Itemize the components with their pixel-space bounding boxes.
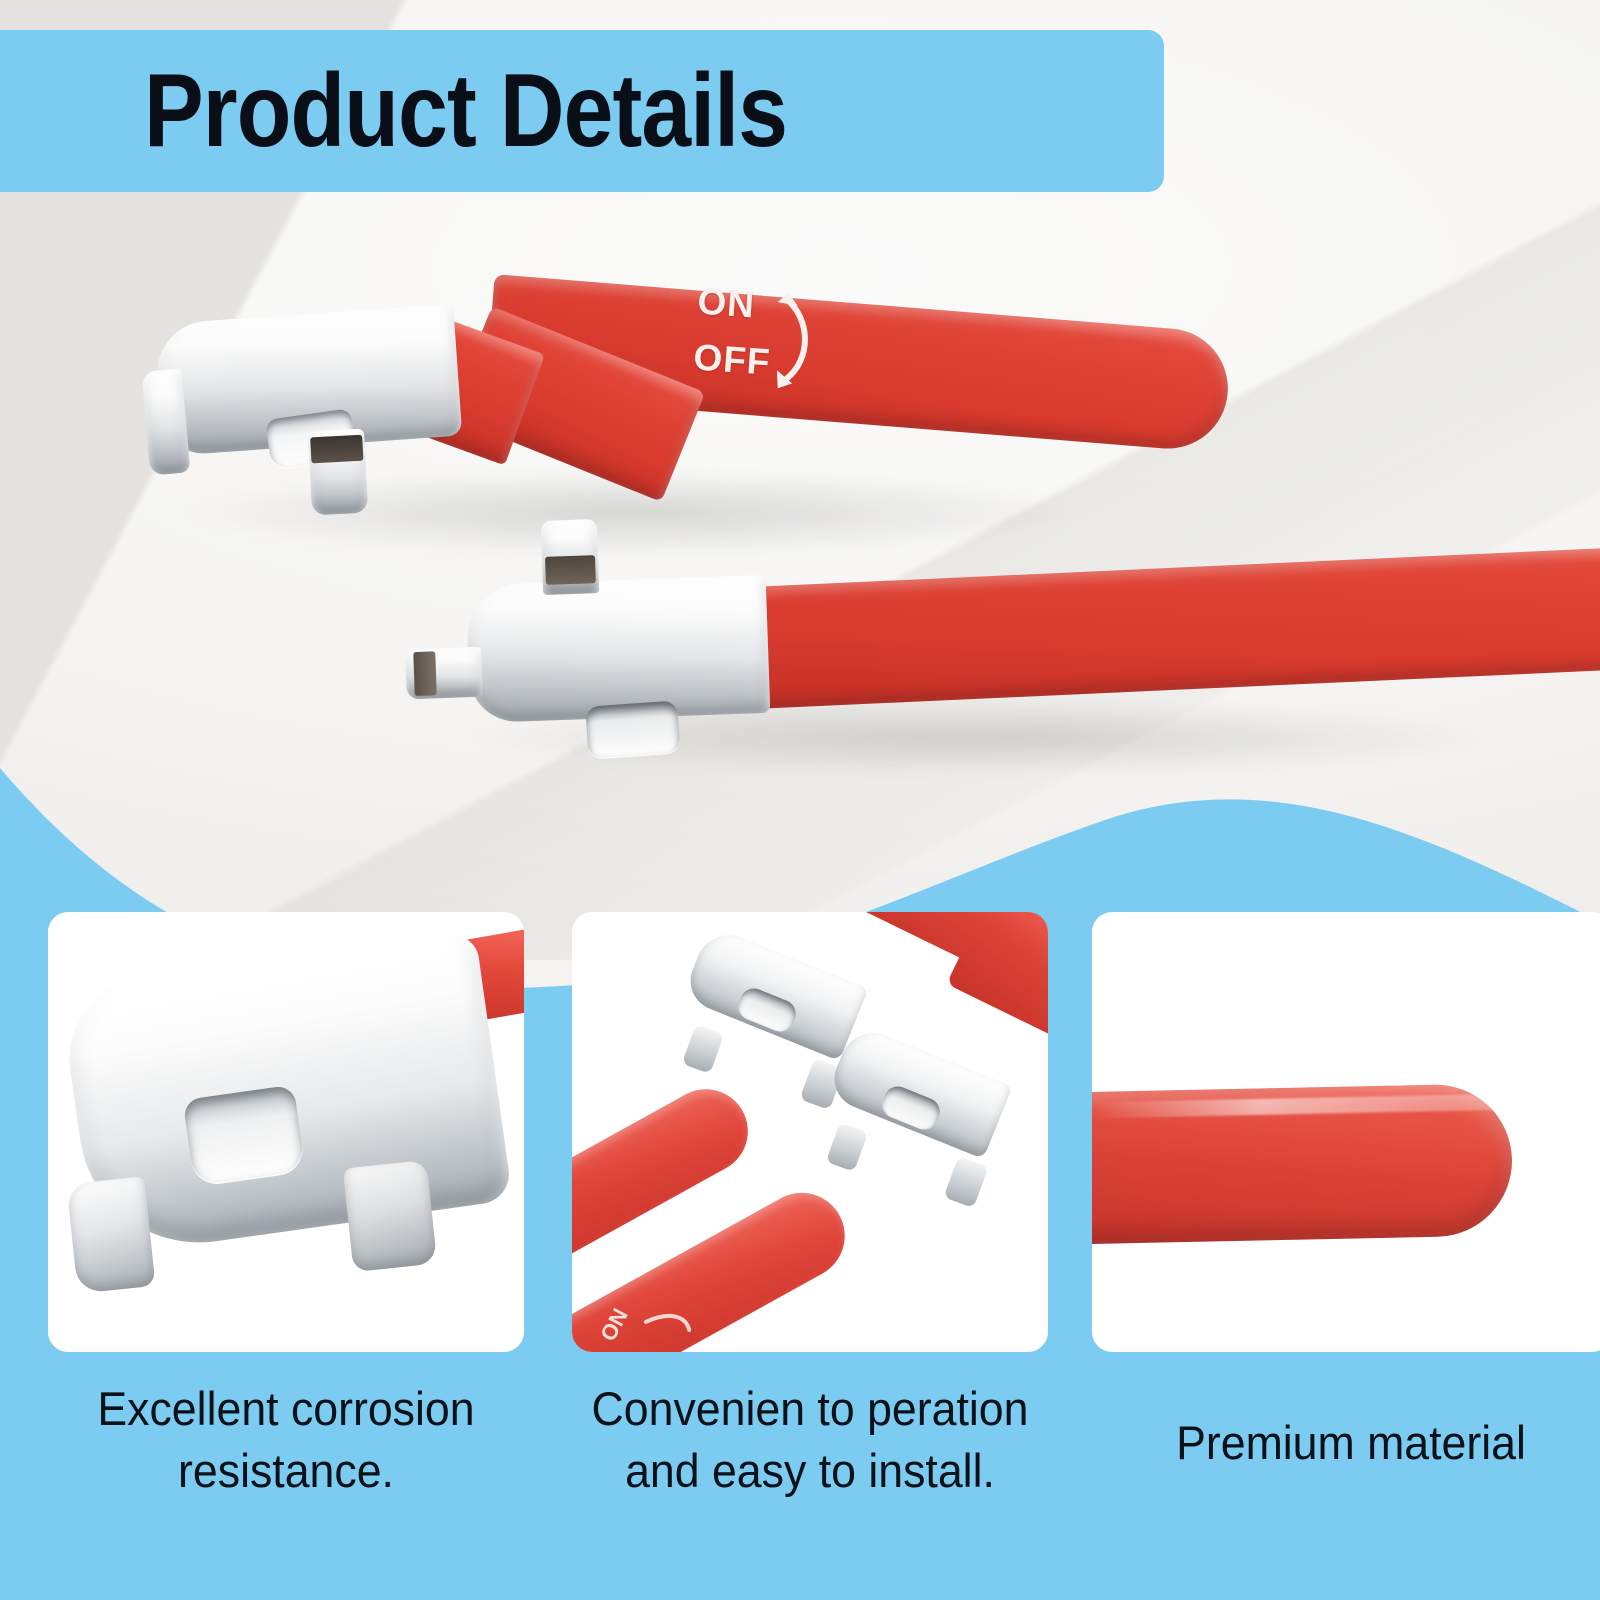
feature-image-operation: ON	[572, 912, 1048, 1352]
caption-line-1: Convenien to peration	[561, 1378, 1059, 1440]
curved-double-arrow-icon	[765, 284, 828, 396]
page-title: Product Details	[144, 59, 787, 163]
chrome-slot-macro	[183, 1085, 306, 1186]
wrench-head-lower	[466, 575, 771, 723]
off-label: OFF	[692, 336, 772, 383]
caption-line-1: Premium material	[1099, 1412, 1600, 1474]
product-details-infographic: Product Details ON OFF	[0, 0, 1600, 1600]
feature-image-material	[1092, 912, 1600, 1352]
wrench-prong-left-lower	[405, 647, 483, 700]
wrench-b-prong-1	[826, 1122, 869, 1172]
wrench-prong-bottom-upper	[308, 429, 368, 516]
wrench-slot-lower	[585, 700, 680, 758]
wrench-prong-top-lower	[541, 519, 600, 595]
wrench-b-prong-2	[943, 1156, 988, 1208]
caption-line-1: Excellent corrosion	[43, 1378, 529, 1440]
feature-caption-operation: Convenien to peration and easy to instal…	[561, 1378, 1059, 1502]
feature-card-material	[1092, 912, 1600, 1352]
page-title-banner: Product Details	[0, 30, 1164, 192]
feature-image-corrosion	[48, 912, 524, 1352]
chrome-prong-left	[66, 1176, 155, 1294]
feature-card-operation: ON	[572, 912, 1048, 1352]
on-off-marking: ON OFF	[691, 281, 828, 400]
wrench-a-prong-1	[682, 1024, 725, 1074]
caption-line-2: and easy to install.	[561, 1440, 1059, 1502]
handle-grip-lower	[727, 541, 1600, 710]
caption-line-2: resistance.	[43, 1440, 529, 1502]
feature-card-corrosion	[48, 912, 524, 1352]
chrome-prong-right	[343, 1160, 437, 1272]
product-photo-lower-wrench	[390, 500, 1570, 770]
feature-caption-corrosion: Excellent corrosion resistance.	[43, 1378, 529, 1502]
feature-caption-material: Premium material	[1099, 1412, 1600, 1474]
on-label: ON	[696, 281, 756, 327]
